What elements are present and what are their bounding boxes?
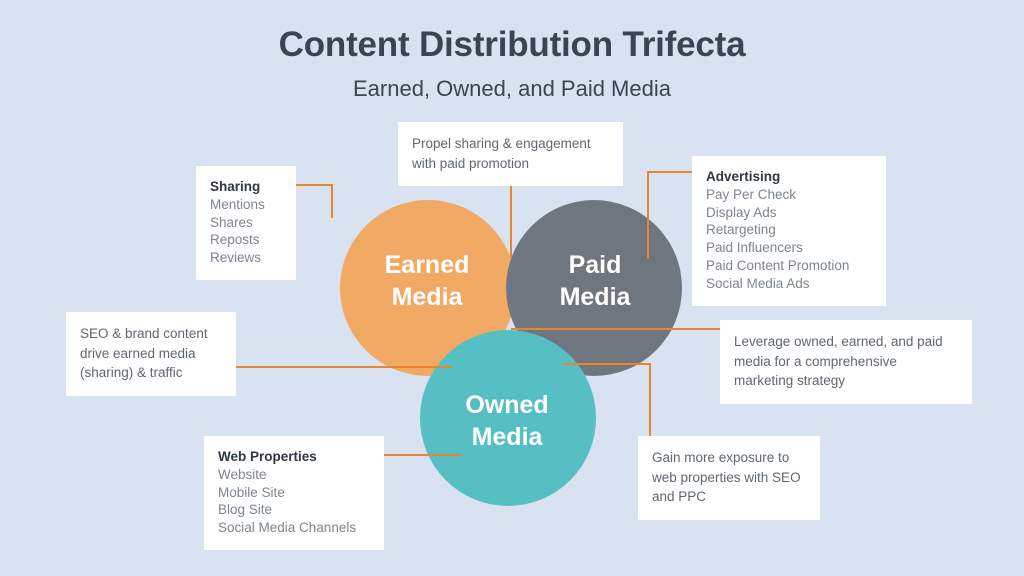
callout-advertising-item: Display Ads (706, 204, 872, 222)
callout-propel-text: Propel sharing & engagement with paid pr… (412, 134, 609, 173)
callout-web-properties-heading: Web Properties (218, 448, 370, 466)
infographic-canvas: Content Distribution Trifecta Earned, Ow… (0, 0, 1024, 576)
callout-web-properties-item: Social Media Channels (218, 519, 370, 537)
venn-label-paid-media: Paid Media (500, 250, 690, 313)
callout-web-properties: Web Properties Website Mobile Site Blog … (204, 436, 384, 550)
venn-label-owned-media: Owned Media (412, 390, 602, 453)
callout-gain-exposure: Gain more exposure to web properties wit… (638, 436, 820, 520)
callout-sharing-heading: Sharing (210, 178, 282, 196)
callout-advertising-item: Paid Influencers (706, 239, 872, 257)
callout-sharing-item: Reposts (210, 231, 282, 249)
callout-advertising-item: Retargeting (706, 221, 872, 239)
callout-web-properties-item: Mobile Site (218, 484, 370, 502)
page-title: Content Distribution Trifecta (0, 25, 1024, 65)
connector-advertising (648, 172, 698, 258)
callout-web-properties-item: Website (218, 466, 370, 484)
callout-sharing-item: Reviews (210, 249, 282, 267)
venn-label-owned-line2: Media (412, 422, 602, 454)
callout-sharing-item: Mentions (210, 196, 282, 214)
callout-advertising-item: Pay Per Check (706, 186, 872, 204)
callout-sharing-item: Shares (210, 214, 282, 232)
callout-advertising-heading: Advertising (706, 168, 872, 186)
callout-propel: Propel sharing & engagement with paid pr… (398, 122, 623, 186)
page-subtitle: Earned, Owned, and Paid Media (0, 76, 1024, 102)
venn-label-owned-line1: Owned (412, 390, 602, 422)
callout-leverage-text: Leverage owned, earned, and paid media f… (734, 332, 958, 391)
callout-seo: SEO & brand content drive earned media (… (66, 312, 236, 396)
venn-label-earned-line1: Earned (332, 250, 522, 282)
venn-label-earned-line2: Media (332, 282, 522, 314)
venn-label-earned-media: Earned Media (332, 250, 522, 313)
venn-label-paid-line1: Paid (500, 250, 690, 282)
callout-seo-text: SEO & brand content drive earned media (… (80, 324, 222, 383)
venn-label-paid-line2: Media (500, 282, 690, 314)
callout-advertising-item: Paid Content Promotion (706, 257, 872, 275)
callout-leverage: Leverage owned, earned, and paid media f… (720, 320, 972, 404)
callout-advertising: Advertising Pay Per Check Display Ads Re… (692, 156, 886, 306)
callout-gain-exposure-text: Gain more exposure to web properties wit… (652, 448, 806, 507)
callout-web-properties-item: Blog Site (218, 501, 370, 519)
callout-advertising-item: Social Media Ads (706, 275, 872, 293)
callout-sharing: Sharing Mentions Shares Reposts Reviews (196, 166, 296, 280)
